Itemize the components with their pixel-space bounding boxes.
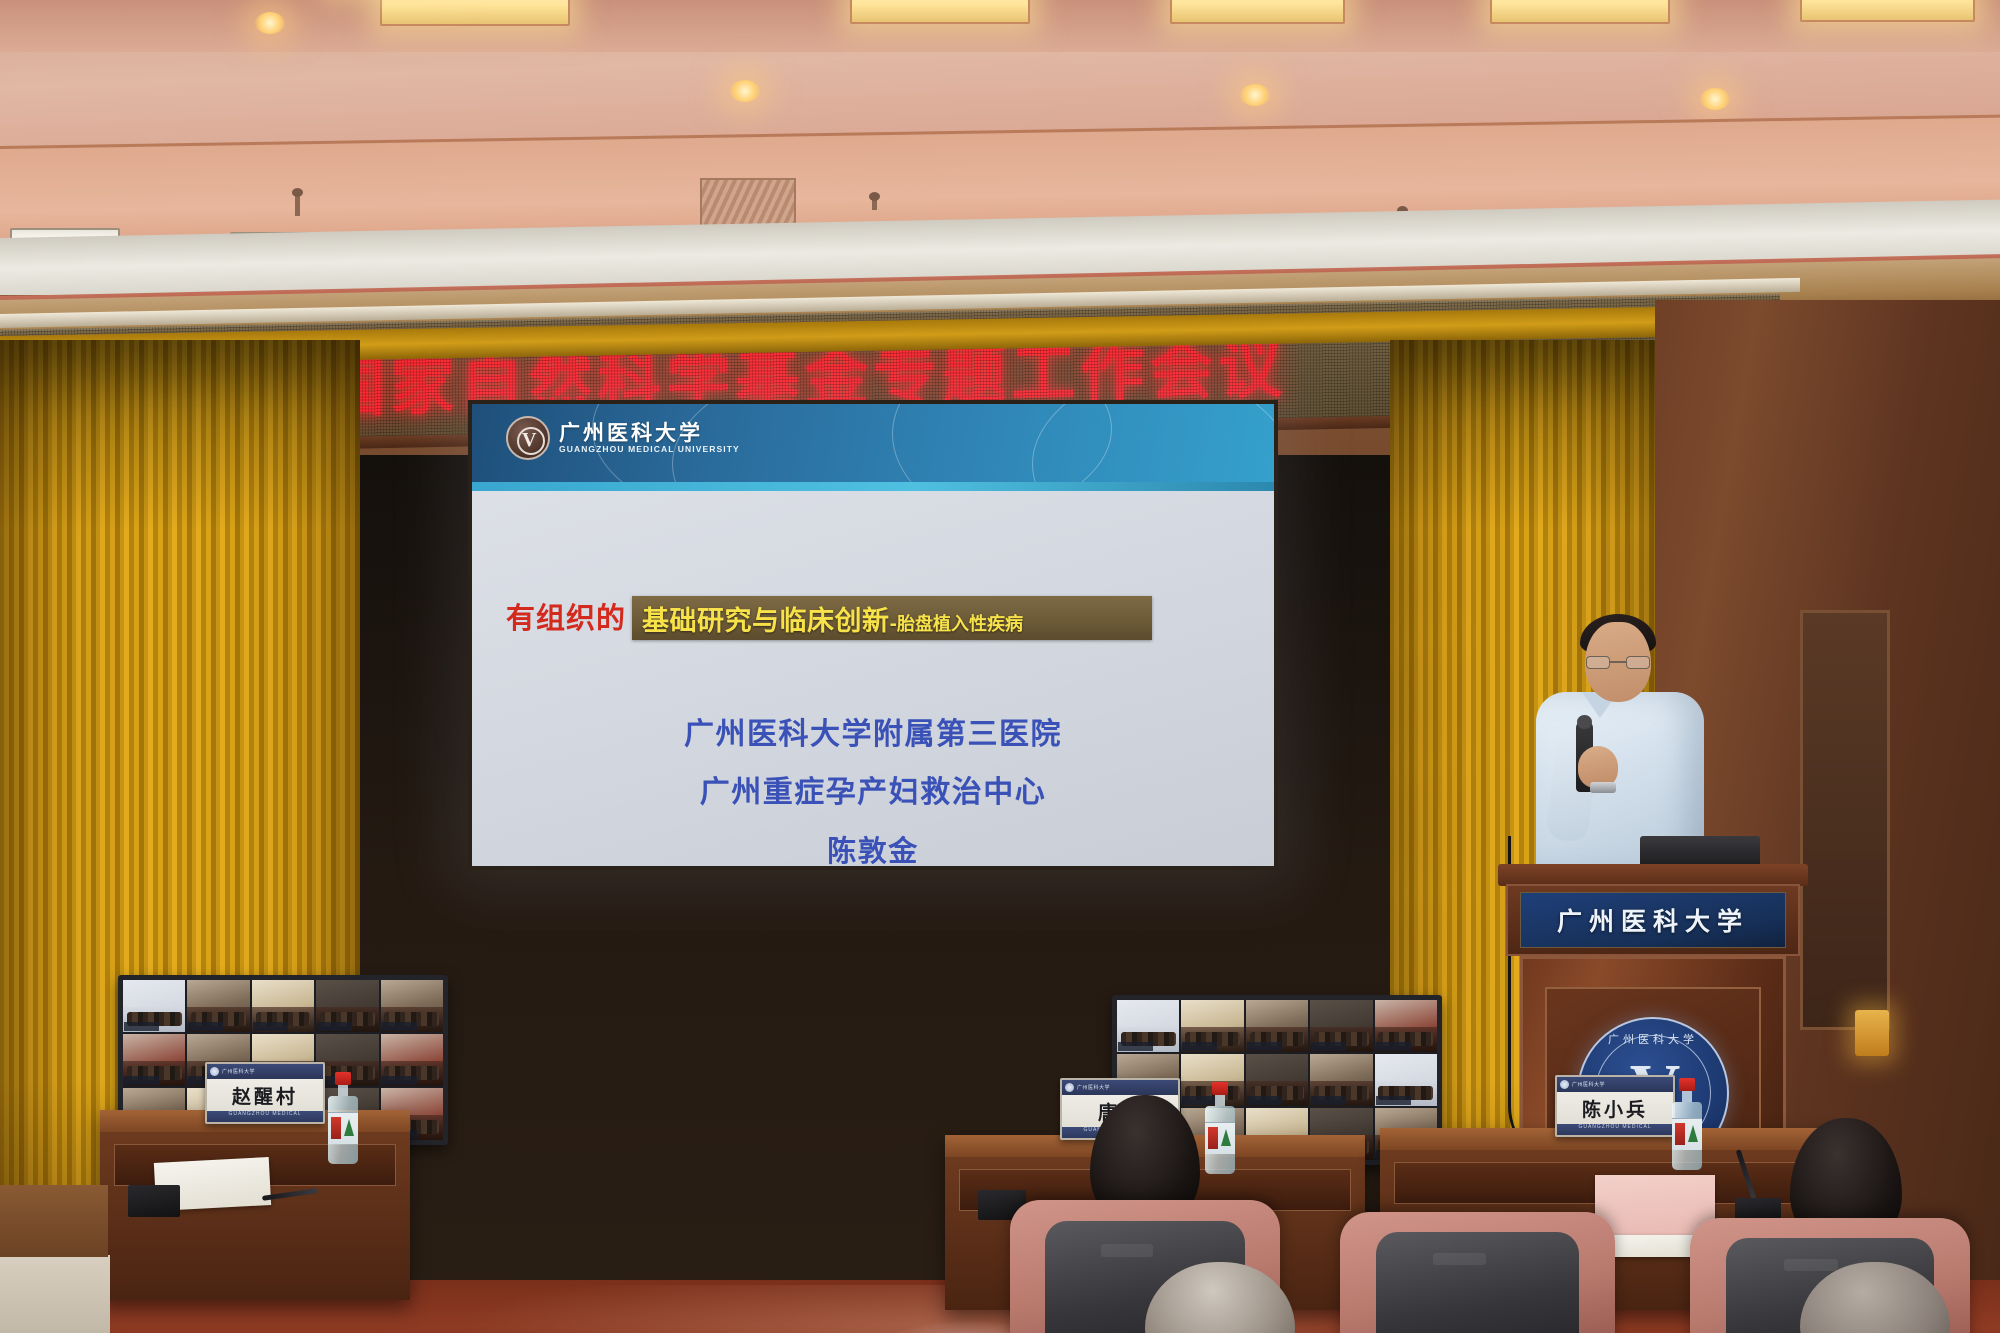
slide-title-main: 基础研究与临床创新 <box>642 606 890 637</box>
nameplate-name: 赵醒村 <box>207 1079 323 1111</box>
vc-tile <box>381 980 443 1032</box>
slide-line-center: 广州重症孕产妇救治中心 <box>472 764 1274 822</box>
ceiling-panel-light <box>850 0 1030 24</box>
slide-title-main-wrap: 基础研究与临床创新-胎盘植入性疾病 <box>642 599 1023 638</box>
nameplate-header: 广州医科大学 <box>1062 1080 1178 1095</box>
vc-tile <box>187 980 249 1032</box>
slide-header-band: V 广州医科大学 GUANGZHOU MEDICAL UNIVERSITY <box>472 404 1274 482</box>
podium-nameplate-text: 广州医科大学 <box>1557 902 1749 938</box>
slide-affiliation-block: 广州医科大学附属第三医院 广州重症孕产妇救治中心 陈敦金 <box>472 706 1274 866</box>
ceiling-panel-light <box>1490 0 1670 24</box>
nameplate-org: 广州医科大学 <box>1572 1081 1605 1088</box>
ceiling-panel-light <box>1800 0 1975 22</box>
slide-title-band: 基础研究与临床创新-胎盘植入性疾病 <box>632 596 1152 640</box>
nameplate-logo-icon <box>1065 1083 1074 1092</box>
ceiling-downlight <box>730 80 760 102</box>
vc-tile <box>316 980 378 1032</box>
ceiling-panel-light <box>1170 0 1345 24</box>
logo-name-cn: 广州医科大学 <box>559 421 740 444</box>
water-bottle[interactable] <box>1205 1082 1235 1174</box>
wristwatch <box>1590 782 1616 793</box>
nameplate-header: 广州医科大学 <box>207 1064 323 1079</box>
projection-screen: V 广州医科大学 GUANGZHOU MEDICAL UNIVERSITY 有组… <box>468 400 1278 870</box>
wainscot-panel <box>0 1185 108 1257</box>
ceiling-panel-light <box>380 0 570 26</box>
water-bottle[interactable] <box>328 1072 358 1164</box>
nameplate-header: 广州医科大学 <box>1557 1077 1673 1092</box>
ceiling-downlight <box>1700 88 1730 110</box>
slide-title-suffix: -胎盘植入性疾病 <box>890 614 1023 635</box>
nameplate-card: 广州医科大学 赵醒村 GUANGZHOU MEDICAL <box>205 1062 325 1124</box>
podium-nameplate: 广州医科大学 <box>1520 892 1786 948</box>
nameplate-org: 广州医科大学 <box>1077 1084 1110 1091</box>
audience-chair[interactable] <box>1340 1212 1615 1333</box>
podium-top-surface <box>1498 864 1808 886</box>
ceiling-downlight <box>1240 84 1270 106</box>
slide-accent-rule <box>472 482 1274 491</box>
vc-tile <box>1117 1000 1179 1052</box>
nameplate-card: 广州医科大学 陈小兵 GUANGZHOU MEDICAL <box>1555 1075 1675 1137</box>
slide-title: 有组织的 基础研究与临床创新-胎盘植入性疾病 <box>506 596 1152 640</box>
slide-line-hospital: 广州医科大学附属第三医院 <box>472 706 1274 764</box>
slide-body: 有组织的 基础研究与临床创新-胎盘植入性疾病 广州医科大学附属第三医院 广州重症… <box>472 491 1274 866</box>
emblem-name-cn: 广州医科大学 <box>1579 1031 1727 1047</box>
university-logo: V 广州医科大学 GUANGZHOU MEDICAL UNIVERSITY <box>506 416 740 460</box>
water-bottle[interactable] <box>1672 1078 1702 1170</box>
nameplate-logo-icon <box>1560 1080 1569 1089</box>
nameplate-footer: GUANGZHOU MEDICAL <box>207 1111 323 1124</box>
nameplate-name: 陈小兵 <box>1557 1092 1673 1124</box>
vc-tile <box>1181 1000 1243 1052</box>
vc-tile <box>1246 1054 1308 1106</box>
vc-tile <box>123 1034 185 1086</box>
vc-tile <box>1375 1054 1437 1106</box>
vc-tile <box>252 980 314 1032</box>
nameplate-logo-icon <box>210 1067 219 1076</box>
ceiling-downlight <box>255 12 285 34</box>
nameplate-footer: GUANGZHOU MEDICAL <box>1557 1124 1673 1137</box>
vc-tile <box>1246 1000 1308 1052</box>
wall-sconce-light <box>1855 1010 1889 1056</box>
sprinkler-head <box>872 198 877 210</box>
slide-line-presenter: 陈敦金 <box>472 822 1274 866</box>
sprinkler-head <box>295 194 300 216</box>
slide-title-prefix: 有组织的 <box>506 596 632 640</box>
desk-control-panel[interactable] <box>128 1185 180 1217</box>
glasses-icon <box>1586 656 1650 669</box>
presentation-slide: V 广州医科大学 GUANGZHOU MEDICAL UNIVERSITY 有组… <box>472 404 1274 866</box>
audience-head <box>1145 1262 1295 1333</box>
vc-tile <box>123 980 185 1032</box>
v-monogram-icon: V <box>506 416 550 460</box>
logo-name-en: GUANGZHOU MEDICAL UNIVERSITY <box>559 444 740 455</box>
nameplate-org: 广州医科大学 <box>222 1068 255 1075</box>
conference-hall-scene: 2024年国家自然科学基金专题工作会议 V 广州医科大学 GUANG <box>0 0 2000 1333</box>
vc-tile <box>1310 1054 1372 1106</box>
vc-tile <box>1375 1000 1437 1052</box>
aisle-floor <box>0 1255 110 1333</box>
audience-head <box>1800 1262 1950 1333</box>
vc-tile <box>1310 1000 1372 1052</box>
vc-tile <box>381 1034 443 1086</box>
